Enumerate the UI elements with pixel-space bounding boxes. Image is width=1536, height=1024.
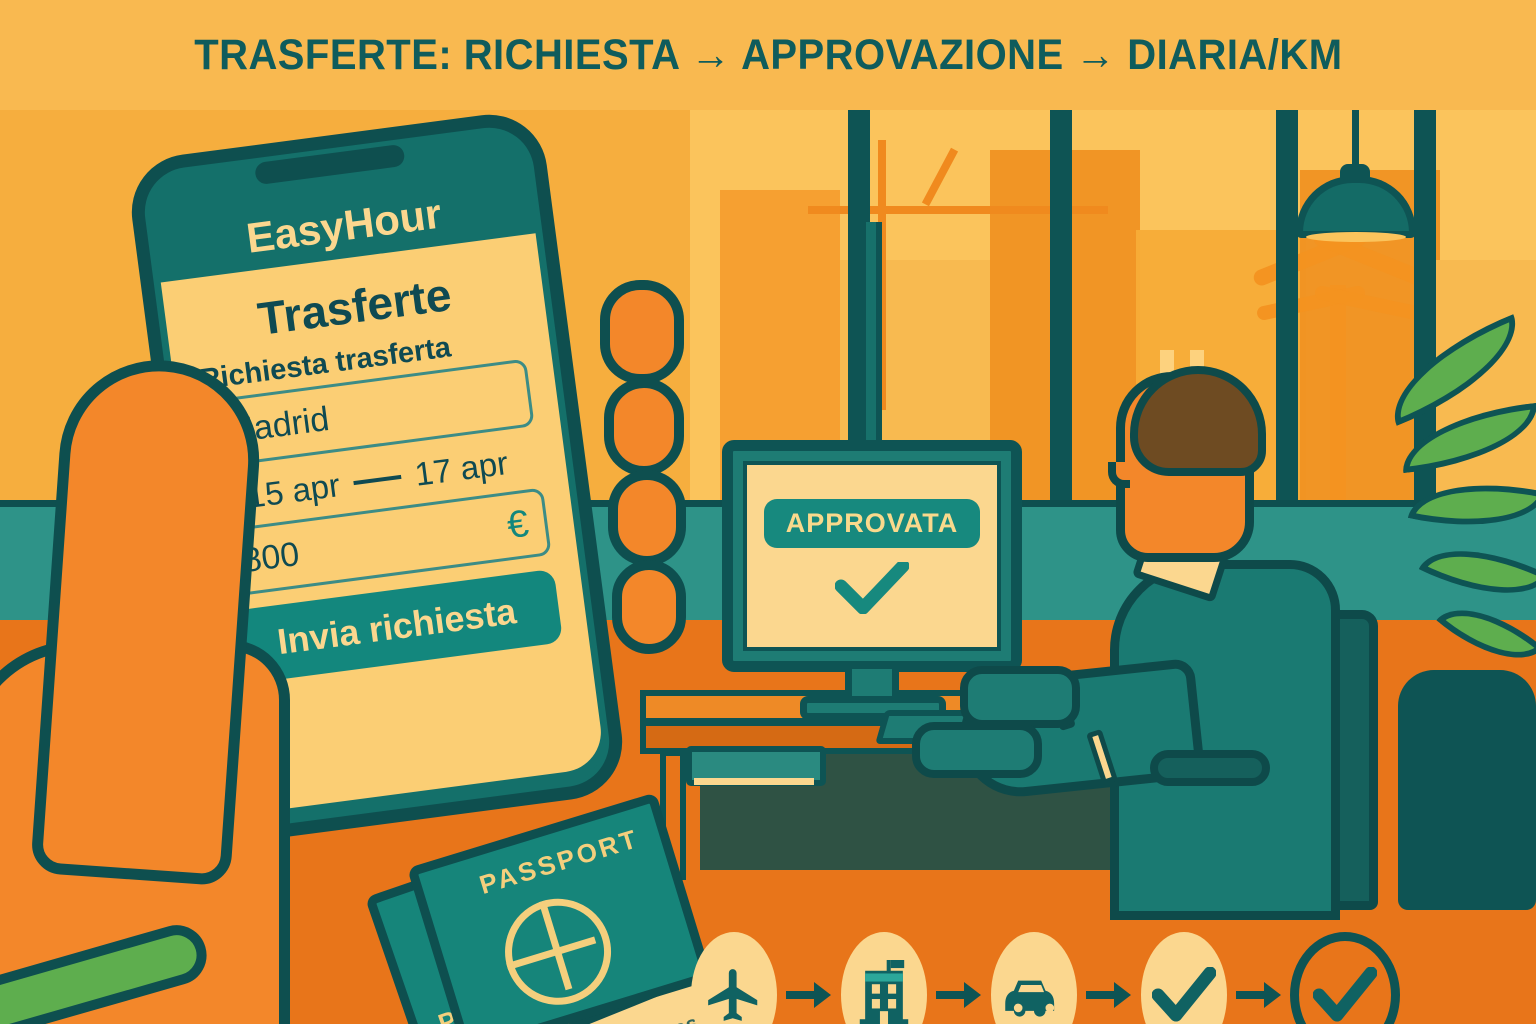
- hotel-icon: [853, 960, 915, 1024]
- date-separator-icon: [353, 475, 401, 485]
- arrow-icon: [782, 930, 836, 1024]
- monitor-screen: APPROVATA: [743, 461, 1001, 651]
- date-end: 17 apr: [413, 444, 511, 494]
- car-icon: [999, 972, 1069, 1018]
- office-chair-armrest: [1150, 750, 1270, 786]
- plane-icon: [703, 964, 765, 1024]
- holding-hand-finger: [600, 280, 684, 384]
- euro-icon: €: [505, 502, 532, 547]
- holding-hand-finger: [604, 378, 684, 476]
- monitor: APPROVATA: [722, 440, 1022, 672]
- person-hand: [912, 722, 1042, 778]
- person-hand: [960, 666, 1080, 728]
- pendant-lamp-cord: [1352, 110, 1359, 172]
- arrow-icon: [1082, 930, 1136, 1024]
- illustration-canvas: TRASFERTE: RICHIESTA → APPROVAZIONE → DI…: [0, 0, 1536, 1024]
- check-icon: [1152, 967, 1216, 1023]
- notebook-pages: [694, 778, 814, 785]
- status-badge: APPROVATA: [764, 499, 981, 548]
- step-plane[interactable]: [686, 930, 782, 1024]
- expense-steps-strip: [686, 922, 1486, 1024]
- plant-pot: [1398, 670, 1536, 910]
- step-car[interactable]: [986, 930, 1082, 1024]
- holding-hand-finger: [608, 470, 686, 566]
- holding-hand-thumb: [30, 354, 266, 887]
- page-title: TRASFERTE: RICHIESTA → APPROVAZIONE → DI…: [194, 31, 1342, 80]
- check-icon: [835, 562, 909, 614]
- scene: APPROVATA: [0, 110, 1536, 1024]
- holding-hand-finger: [612, 560, 686, 654]
- globe-icon: [492, 886, 624, 1018]
- check-circle-icon: [1313, 967, 1377, 1023]
- monitor-backdrop-post: [860, 222, 882, 444]
- date-start: 15 apr: [244, 466, 342, 516]
- arrow-icon: [1232, 930, 1286, 1024]
- step-approved[interactable]: [1136, 930, 1232, 1024]
- arrow-icon: [932, 930, 986, 1024]
- step-reimbursed[interactable]: [1286, 930, 1404, 1024]
- step-hotel[interactable]: [836, 930, 932, 1024]
- pendant-lamp-glow: [1306, 232, 1406, 242]
- header-banner: TRASFERTE: RICHIESTA → APPROVAZIONE → DI…: [0, 0, 1536, 110]
